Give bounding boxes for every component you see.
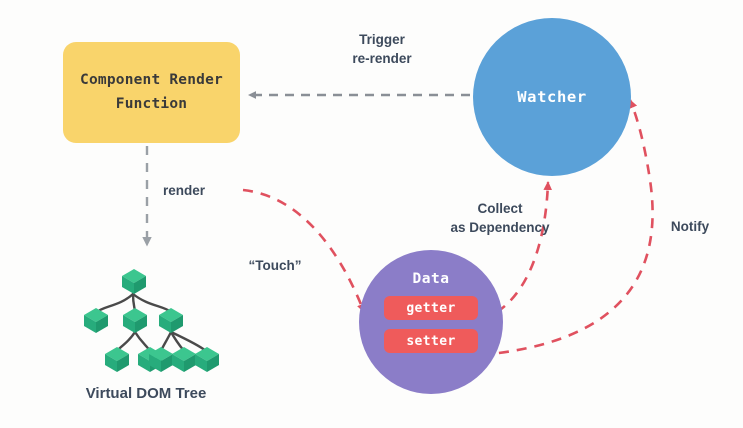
- edge-label-trigger-re-render: Trigger re-render: [318, 31, 446, 68]
- vdom-cube-l2-c: [155, 303, 187, 335]
- diagram-canvas: Component Render Function Watcher Data g…: [0, 0, 743, 428]
- setter-box[interactable]: setter: [384, 329, 478, 353]
- data-node[interactable]: Data getter setter: [359, 250, 503, 394]
- vdom-cube-l3-e: [191, 342, 223, 374]
- edge-label-render: render: [163, 182, 235, 201]
- setter-label: setter: [406, 334, 455, 349]
- getter-label: getter: [406, 301, 455, 316]
- edge-label-collect-as-dependency: Collect as Dependency: [440, 200, 560, 237]
- vdom-cube-l3-a: [101, 342, 133, 374]
- edge-label-notify: Notify: [655, 218, 725, 237]
- data-label: Data: [413, 271, 450, 287]
- edge-label-touch: “Touch”: [230, 257, 320, 276]
- virtual-dom-tree-caption: Virtual DOM Tree: [57, 384, 235, 405]
- watcher-label: Watcher: [517, 88, 587, 106]
- component-render-function-node[interactable]: Component Render Function: [63, 42, 240, 143]
- getter-box[interactable]: getter: [384, 296, 478, 320]
- vdom-cube-root: [118, 264, 150, 296]
- component-render-function-label: Component Render Function: [63, 69, 240, 116]
- watcher-node[interactable]: Watcher: [473, 18, 631, 176]
- vdom-cube-l2-a: [80, 303, 112, 335]
- vdom-cube-l2-b: [119, 303, 151, 335]
- edge-touch: [243, 190, 364, 312]
